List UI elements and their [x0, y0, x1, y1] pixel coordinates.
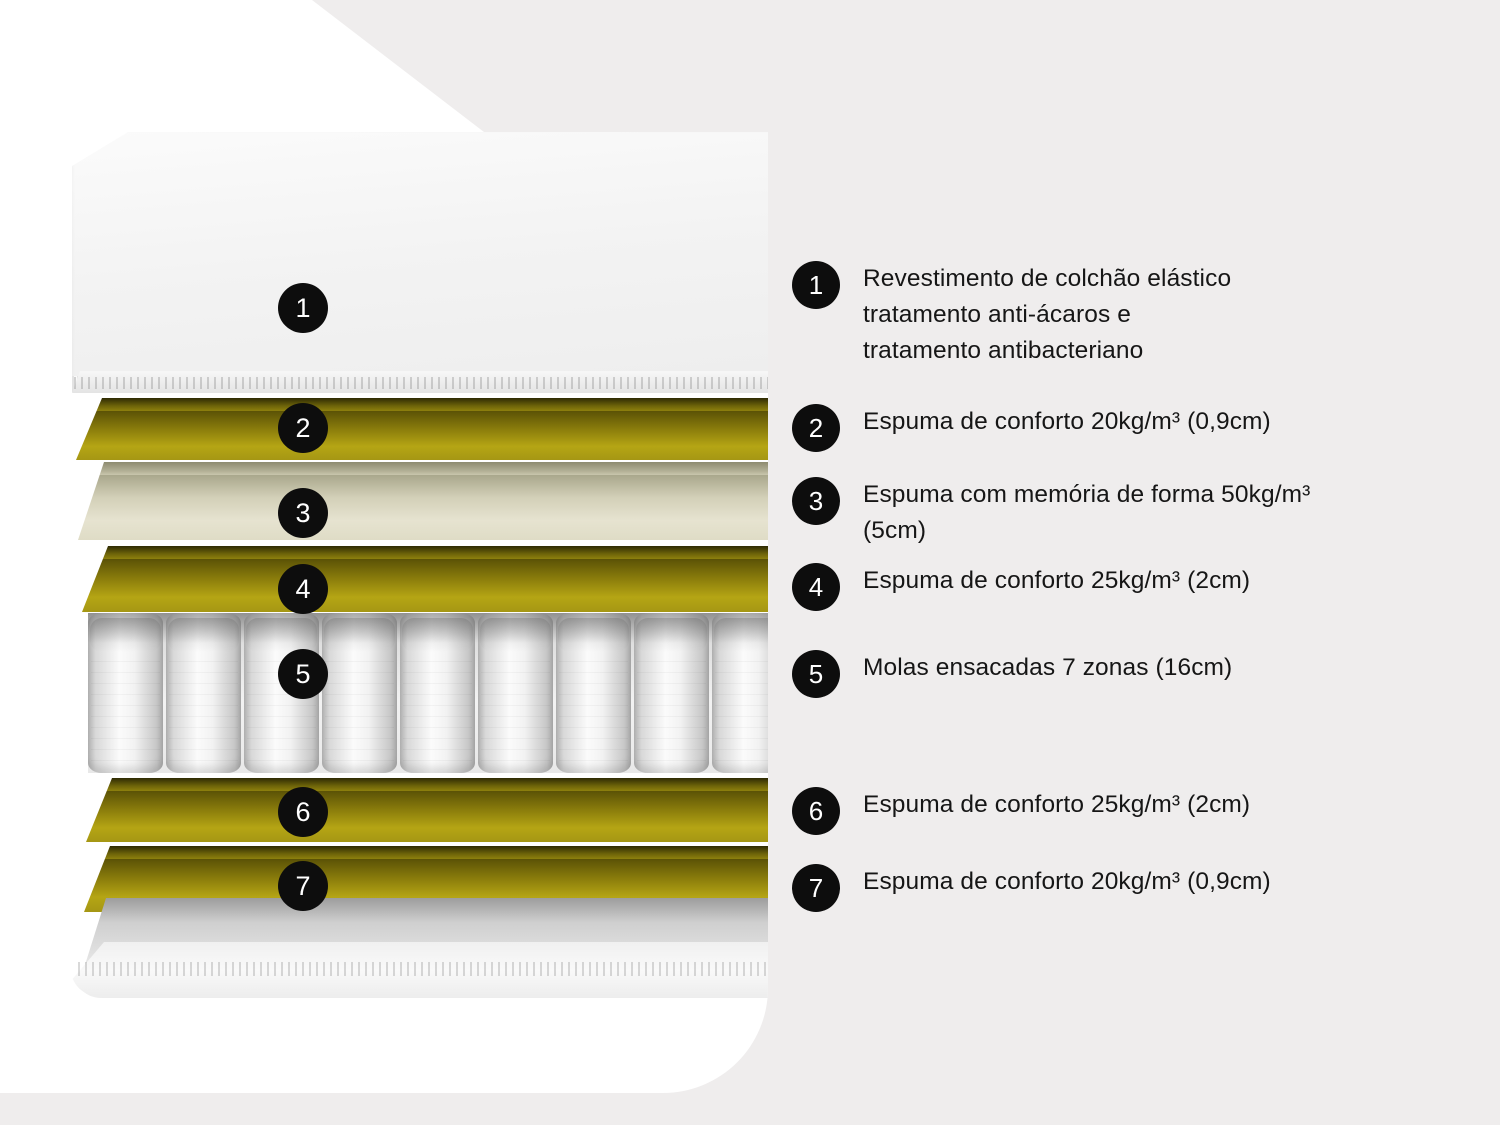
- layer-3-face: [78, 475, 768, 540]
- layer-4-comfort-foam: [82, 546, 768, 612]
- layer-2-bevel: [76, 398, 768, 411]
- legend-item-4: 4 Espuma de conforto 25kg/m³ (2cm): [792, 563, 1250, 611]
- layer-3-bevel: [78, 462, 768, 475]
- legend-item-1: 1 Revestimento de colchão elástico trata…: [792, 261, 1231, 369]
- legend-label-3: Espuma com memória de forma 50kg/m³ (5cm…: [863, 477, 1310, 549]
- legend-label-1-line-2: tratamento anti-ácaros e: [863, 297, 1231, 333]
- mattress-illustration: 1 2 3 4 5 6 7: [0, 0, 768, 1093]
- legend-badge-6: 6: [792, 787, 840, 835]
- legend-label-5-line-1: Molas ensacadas 7 zonas (16cm): [863, 650, 1232, 686]
- layer-4-face: [82, 559, 768, 612]
- legend-badge-2: 2: [792, 404, 840, 452]
- legend-item-3: 3 Espuma com memória de forma 50kg/m³ (5…: [792, 477, 1310, 549]
- legend-badge-7: 7: [792, 864, 840, 912]
- legend-badge-5: 5: [792, 650, 840, 698]
- legend-badge-3: 3: [792, 477, 840, 525]
- image-badge-1: 1: [278, 283, 328, 333]
- layer-7-bevel: [84, 846, 768, 859]
- legend-label-1-line-3: tratamento antibacteriano: [863, 333, 1231, 369]
- legend-label-6: Espuma de conforto 25kg/m³ (2cm): [863, 787, 1250, 823]
- legend-badge-4: 4: [792, 563, 840, 611]
- legend-item-2: 2 Espuma de conforto 20kg/m³ (0,9cm): [792, 404, 1271, 452]
- legend-label-6-line-1: Espuma de conforto 25kg/m³ (2cm): [863, 787, 1250, 823]
- layer-1-cover-stitching: [74, 377, 768, 389]
- legend-label-4: Espuma de conforto 25kg/m³ (2cm): [863, 563, 1250, 599]
- legend-label-1: Revestimento de colchão elástico tratame…: [863, 261, 1231, 369]
- base-cover-stitching: [78, 962, 768, 976]
- legend-label-3-line-1: Espuma com memória de forma 50kg/m³: [863, 477, 1310, 513]
- image-badge-5: 5: [278, 649, 328, 699]
- image-badge-6: 6: [278, 787, 328, 837]
- image-badge-3: 3: [278, 488, 328, 538]
- legend-label-4-line-1: Espuma de conforto 25kg/m³ (2cm): [863, 563, 1250, 599]
- layer-2-face: [76, 411, 768, 460]
- legend-label-2: Espuma de conforto 20kg/m³ (0,9cm): [863, 404, 1271, 440]
- legend-label-2-line-1: Espuma de conforto 20kg/m³ (0,9cm): [863, 404, 1271, 440]
- layer-1-cover-top-face: [72, 132, 768, 392]
- layer-5-pocket-springs: [88, 613, 768, 773]
- legend-label-7-line-1: Espuma de conforto 20kg/m³ (0,9cm): [863, 864, 1271, 900]
- legend-item-7: 7 Espuma de conforto 20kg/m³ (0,9cm): [792, 864, 1271, 912]
- image-badge-7: 7: [278, 861, 328, 911]
- layer-legend: 1 Revestimento de colchão elástico trata…: [792, 0, 1432, 1125]
- layer-3-memory-foam: [78, 462, 768, 540]
- layer-6-bevel: [86, 778, 768, 791]
- legend-item-5: 5 Molas ensacadas 7 zonas (16cm): [792, 650, 1232, 698]
- legend-label-1-line-1: Revestimento de colchão elástico: [863, 261, 1231, 297]
- legend-label-7: Espuma de conforto 20kg/m³ (0,9cm): [863, 864, 1271, 900]
- legend-badge-1: 1: [792, 261, 840, 309]
- legend-label-5: Molas ensacadas 7 zonas (16cm): [863, 650, 1232, 686]
- image-badge-2: 2: [278, 403, 328, 453]
- layer-6-face: [86, 791, 768, 842]
- layer-6-comfort-foam: [86, 778, 768, 842]
- legend-label-3-line-2: (5cm): [863, 513, 1310, 549]
- image-badge-4: 4: [278, 564, 328, 614]
- mattress-layers-infographic: 1 2 3 4 5 6 7 1 Revestimento de colchão …: [0, 0, 1500, 1125]
- layer-2-comfort-foam: [76, 398, 768, 460]
- layer-4-bevel: [82, 546, 768, 559]
- spring-top-shadow: [88, 613, 768, 643]
- legend-item-6: 6 Espuma de conforto 25kg/m³ (2cm): [792, 787, 1250, 835]
